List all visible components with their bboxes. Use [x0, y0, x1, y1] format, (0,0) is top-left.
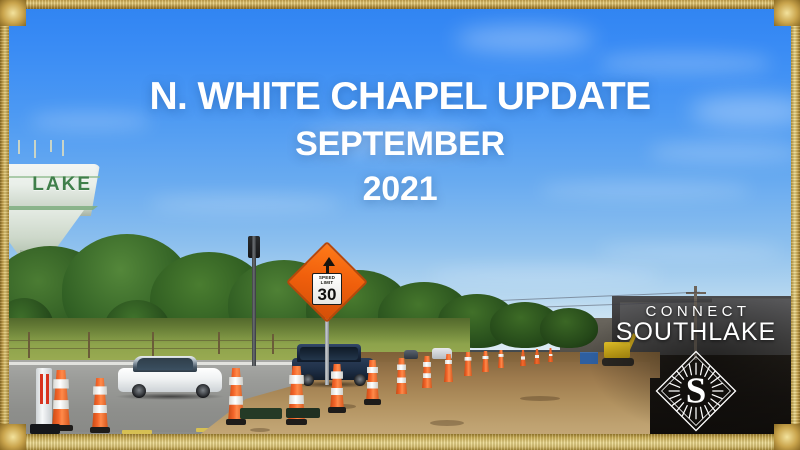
dirt-texture: [380, 436, 408, 440]
speed-limit-plate: SPEED LIMIT 30: [312, 273, 342, 305]
traffic-drum: [482, 351, 489, 372]
logo-word-southlake: SOUTHLAKE: [610, 319, 782, 345]
traffic-drum: [444, 354, 453, 382]
signal-mast-pole: [252, 236, 256, 366]
promo-graphic-canvas: LAKE: [0, 0, 800, 450]
diamond-sunburst-monogram-icon: S: [654, 349, 738, 433]
emblem-letter-s: S: [686, 370, 707, 411]
traffic-drum: [498, 350, 504, 368]
dirt-texture: [520, 396, 560, 401]
speed-limit-value: 30: [318, 286, 337, 303]
sandbag-base: [286, 408, 320, 418]
cloud-icon: [600, 244, 780, 258]
up-arrow-icon: [323, 257, 335, 266]
traffic-drum: [366, 360, 379, 402]
traffic-drum: [330, 364, 344, 410]
cloud-icon: [600, 52, 770, 74]
traffic-cone: [520, 350, 526, 366]
traffic-drum: [422, 356, 432, 388]
headline-year: 2021: [0, 168, 800, 210]
headline-month: SEPTEMBER: [0, 122, 800, 166]
delineator-red-panel: [46, 374, 49, 404]
traffic-cone: [534, 349, 540, 364]
dirt-texture: [250, 428, 270, 432]
traffic-cone: [548, 348, 553, 362]
lane-marking: [122, 430, 152, 434]
delineator-post: [36, 368, 52, 430]
delineator-base: [30, 424, 60, 434]
white-sedan: [118, 352, 222, 398]
cloud-icon: [455, 26, 595, 52]
fence-post: [28, 332, 30, 358]
fence-post: [218, 332, 220, 354]
delineator-red-panel: [40, 374, 43, 404]
traffic-drum: [464, 352, 472, 376]
fence-post: [88, 332, 90, 358]
dirt-texture: [430, 420, 464, 426]
construction-speed-sign: SPEED LIMIT 30: [298, 253, 360, 383]
headline-primary: N. WHITE CHAPEL UPDATE: [0, 76, 800, 118]
sandbag-base: [240, 408, 282, 419]
title-block: N. WHITE CHAPEL UPDATE SEPTEMBER 2021: [0, 76, 800, 210]
connect-southlake-logo[interactable]: CONNECT SOUTHLAKE: [610, 304, 782, 428]
equipment-crate: [580, 352, 598, 364]
traffic-drum: [52, 370, 70, 428]
traffic-drum: [396, 358, 407, 394]
traffic-drum: [92, 378, 108, 430]
fence-post: [272, 334, 274, 354]
